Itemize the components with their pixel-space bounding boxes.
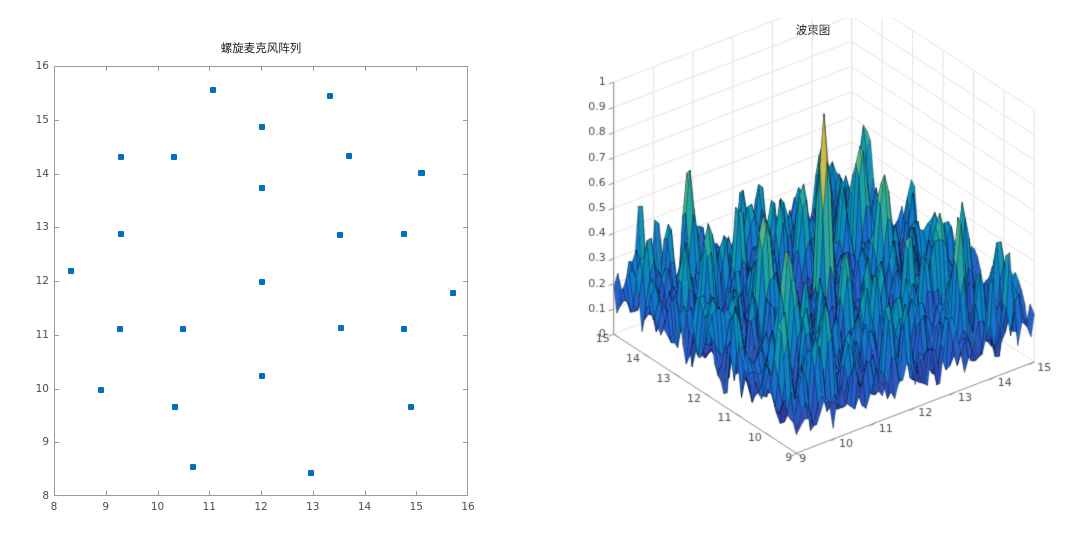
- x-tick: [261, 66, 262, 71]
- scatter-point: [308, 470, 314, 476]
- scatter-point: [259, 279, 265, 285]
- scatter-point: [327, 93, 333, 99]
- scatter-point: [259, 373, 265, 379]
- scatter-point: [68, 268, 74, 274]
- y-tick-label: 13: [24, 221, 49, 233]
- x-tick: [313, 66, 314, 71]
- x-tick: [209, 66, 210, 71]
- x-tick-label: 16: [461, 501, 474, 513]
- scatter-point: [259, 124, 265, 130]
- x-tick-label: 14: [358, 501, 371, 513]
- x-tick: [313, 491, 314, 496]
- y-tick: [463, 227, 468, 228]
- y-tick-label: 12: [24, 275, 49, 287]
- y-tick: [463, 389, 468, 390]
- y-tick-label: 10: [24, 383, 49, 395]
- x-tick-label: 11: [203, 501, 216, 513]
- y-tick: [463, 281, 468, 282]
- scatter-point: [210, 87, 216, 93]
- x-tick: [416, 491, 417, 496]
- x-tick: [261, 491, 262, 496]
- scatter-point: [408, 404, 414, 410]
- scatter-axes: [54, 66, 468, 496]
- x-tick-label: 9: [102, 501, 109, 513]
- x-tick: [106, 66, 107, 71]
- scatter-plot-title: 螺旋麦克风阵列: [54, 40, 468, 56]
- y-tick-label: 8: [24, 490, 49, 502]
- scatter-point: [337, 232, 343, 238]
- scatter-point: [118, 154, 124, 160]
- y-tick-label: 11: [24, 329, 49, 341]
- x-tick: [158, 491, 159, 496]
- scatter-point: [338, 325, 344, 331]
- surface-axes: [556, 18, 1070, 542]
- x-tick: [365, 66, 366, 71]
- y-tick: [54, 389, 59, 390]
- y-tick: [54, 174, 59, 175]
- scatter-point: [98, 387, 104, 393]
- x-tick-label: 15: [410, 501, 423, 513]
- scatter-point: [172, 404, 178, 410]
- y-tick: [54, 227, 59, 228]
- scatter-point: [190, 464, 196, 470]
- y-tick: [54, 281, 59, 282]
- y-tick: [54, 120, 59, 121]
- scatter-point: [117, 326, 123, 332]
- scatter-point: [171, 154, 177, 160]
- x-tick-label: 12: [254, 501, 267, 513]
- x-tick: [416, 66, 417, 71]
- x-tick: [158, 66, 159, 71]
- scatter-point: [450, 290, 456, 296]
- beam-pattern-canvas: [556, 18, 1070, 542]
- x-tick: [365, 491, 366, 496]
- x-tick: [106, 491, 107, 496]
- y-tick-label: 14: [24, 168, 49, 180]
- scatter-point: [418, 170, 424, 176]
- y-tick-label: 9: [24, 436, 49, 448]
- y-tick-label: 16: [24, 60, 49, 72]
- scatter-point: [118, 231, 124, 237]
- y-tick-label: 15: [24, 114, 49, 126]
- x-tick: [209, 491, 210, 496]
- y-tick: [463, 442, 468, 443]
- x-tick-label: 8: [51, 501, 58, 513]
- y-tick: [54, 442, 59, 443]
- scatter-point: [401, 231, 407, 237]
- scatter-point: [180, 326, 186, 332]
- matlab-figure-window: 螺旋麦克风阵列 89101112131415168910111213141516…: [0, 0, 1080, 556]
- y-tick: [463, 120, 468, 121]
- y-tick: [463, 335, 468, 336]
- y-tick: [463, 174, 468, 175]
- x-tick-label: 13: [306, 501, 319, 513]
- x-tick-label: 10: [151, 501, 164, 513]
- scatter-point: [401, 326, 407, 332]
- scatter-point: [259, 185, 265, 191]
- scatter-point: [346, 153, 352, 159]
- y-tick: [54, 335, 59, 336]
